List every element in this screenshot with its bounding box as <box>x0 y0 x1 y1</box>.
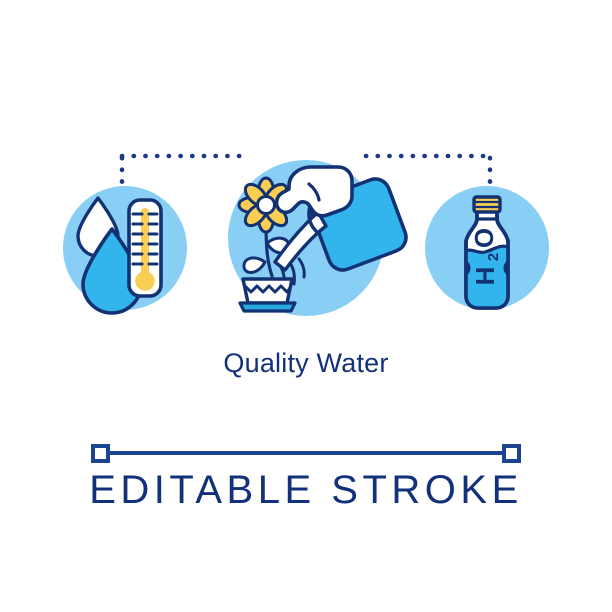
editable-stroke-path <box>93 446 519 461</box>
icon-water-temperature <box>63 186 187 313</box>
illustration-canvas: H 2 O Quality Water EDITABLE STROKE <box>0 0 612 612</box>
icon-watering-plant <box>228 160 406 316</box>
anchor-point-left[interactable] <box>93 446 108 461</box>
svg-text:2: 2 <box>485 253 502 261</box>
svg-text:H: H <box>470 267 500 286</box>
dotted-connector-left <box>122 156 246 190</box>
concept-illustration: H 2 O <box>0 0 612 612</box>
flower-center <box>258 197 275 214</box>
svg-text:O: O <box>469 228 499 248</box>
concept-title: Quality Water <box>0 348 612 379</box>
editable-stroke-label: EDITABLE STROKE <box>0 468 612 513</box>
bottle-cap-icon <box>474 197 500 212</box>
flower-pot-saucer <box>240 303 295 311</box>
icon-bottled-water: H 2 O <box>425 186 549 310</box>
anchor-point-right[interactable] <box>504 446 519 461</box>
